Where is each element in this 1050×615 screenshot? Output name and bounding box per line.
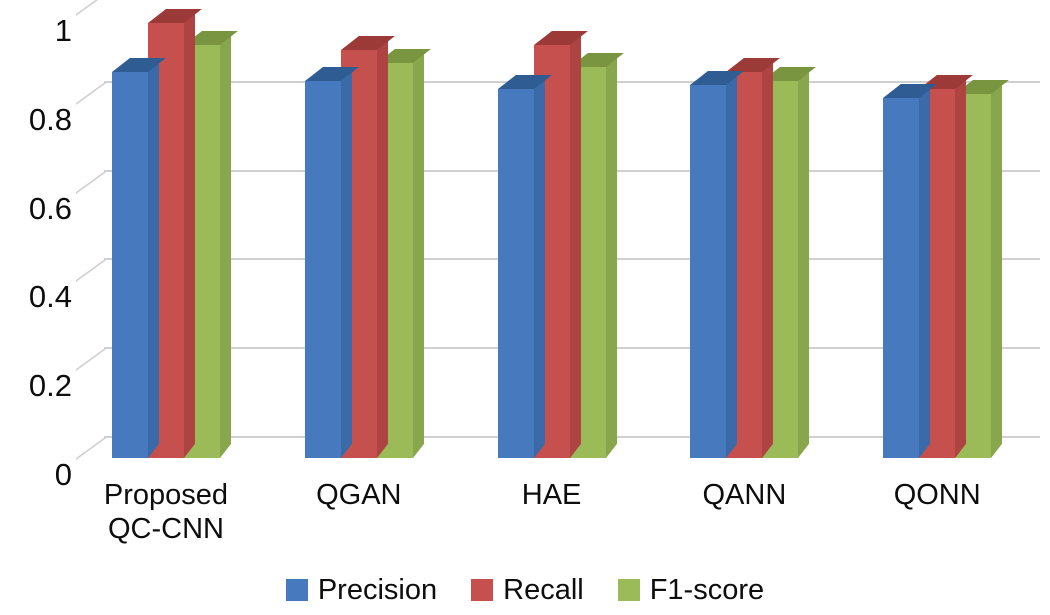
bar-front-face bbox=[112, 72, 148, 458]
legend-label: F1-score bbox=[650, 576, 764, 605]
bar-side-face bbox=[148, 58, 159, 458]
bar-front-face bbox=[883, 98, 919, 458]
chart-legend: PrecisionRecallF1-score bbox=[0, 566, 1050, 614]
bar-group bbox=[305, 6, 424, 466]
legend-label: Recall bbox=[503, 576, 584, 605]
bar-side-face bbox=[570, 31, 581, 458]
legend-swatch-f1-score bbox=[618, 579, 640, 601]
x-axis-labels: ProposedQC-CNNQGANHAEQANNQONN bbox=[76, 478, 1040, 558]
bar-side-face bbox=[413, 49, 424, 458]
bar-side-face bbox=[919, 84, 930, 458]
x-axis-category-line: QGAN bbox=[249, 478, 469, 512]
bar-precision bbox=[690, 85, 726, 458]
bar-side-face bbox=[534, 75, 545, 458]
bar-precision bbox=[112, 72, 148, 458]
x-axis-category-line: QC-CNN bbox=[56, 512, 276, 546]
legend-swatch-recall bbox=[471, 579, 493, 601]
bar-precision bbox=[498, 89, 534, 458]
bar-side-face bbox=[955, 75, 966, 458]
bar-group bbox=[112, 6, 231, 466]
legend-item[interactable]: Recall bbox=[471, 576, 584, 605]
x-axis-category-line: Proposed bbox=[56, 478, 276, 512]
x-axis-category-label: ProposedQC-CNN bbox=[56, 478, 276, 546]
bar-front-face bbox=[498, 89, 534, 458]
legend-item[interactable]: F1-score bbox=[618, 576, 764, 605]
y-axis: 10.80.60.40.20 bbox=[0, 0, 72, 480]
bar-side-face bbox=[377, 35, 388, 458]
bar-group bbox=[883, 6, 1002, 466]
bar-front-face bbox=[690, 85, 726, 458]
bar-precision bbox=[305, 81, 341, 458]
y-axis-tick-label: 1 bbox=[8, 15, 72, 46]
x-axis-category-line: QONN bbox=[827, 478, 1047, 512]
x-axis-category-label: QANN bbox=[634, 478, 854, 512]
bar-side-face bbox=[726, 71, 737, 458]
x-axis-category-label: QGAN bbox=[249, 478, 469, 512]
bar-side-face bbox=[798, 67, 809, 458]
x-axis-category-label: HAE bbox=[442, 478, 662, 512]
y-axis-tick-label: 0.2 bbox=[8, 370, 72, 401]
bar-side-face bbox=[341, 67, 352, 458]
x-axis-category-line: QANN bbox=[634, 478, 854, 512]
legend-item[interactable]: Precision bbox=[286, 576, 437, 605]
y-axis-tick-label: 0.8 bbox=[8, 104, 72, 135]
bar-side-face bbox=[762, 58, 773, 458]
plot-area bbox=[76, 6, 1040, 466]
bar-group bbox=[498, 6, 617, 466]
bar-side-face bbox=[220, 31, 231, 458]
bar-side-face bbox=[991, 80, 1002, 458]
bar-precision bbox=[883, 98, 919, 458]
bar-group bbox=[690, 6, 809, 466]
bars-layer bbox=[76, 6, 1040, 466]
x-axis-category-label: QONN bbox=[827, 478, 1047, 512]
bar-chart: 10.80.60.40.20 ProposedQC-CNNQGANHAEQANN… bbox=[0, 0, 1050, 615]
legend-swatch-precision bbox=[286, 579, 308, 601]
legend-label: Precision bbox=[318, 576, 437, 605]
bar-side-face bbox=[606, 53, 617, 458]
bar-front-face bbox=[305, 81, 341, 458]
x-axis-category-line: HAE bbox=[442, 478, 662, 512]
bar-side-face bbox=[184, 9, 195, 458]
y-axis-tick-label: 0.4 bbox=[8, 281, 72, 312]
y-axis-tick-label: 0.6 bbox=[8, 193, 72, 224]
